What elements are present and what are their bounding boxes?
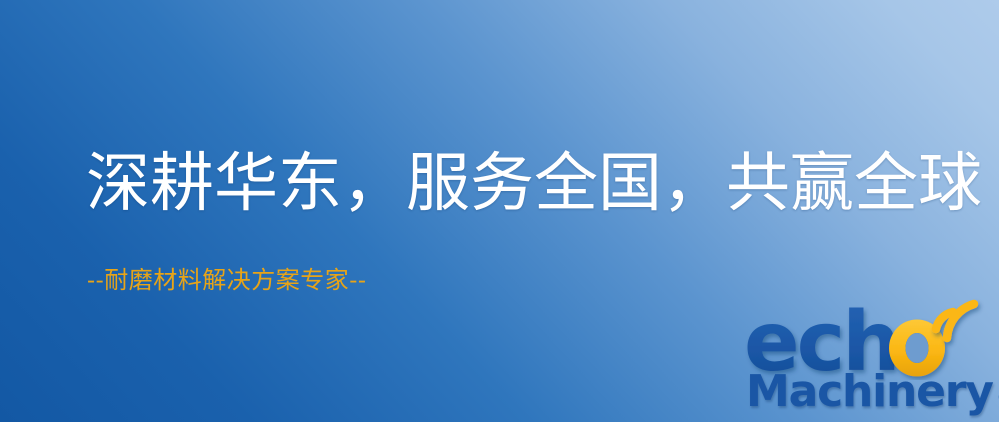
logo-text-machinery: Machinery bbox=[746, 370, 993, 414]
headline-text: 深耕华东，服务全国，共赢全球 bbox=[86, 152, 982, 216]
echo-machinery-logo: ech Machinery ® bbox=[744, 296, 994, 422]
logo-subtext-block: Machinery ® bbox=[746, 370, 999, 414]
signal-waves-icon bbox=[936, 304, 974, 338]
hero-banner: 深耕华东，服务全国，共赢全球 --耐磨材料解决方案专家-- bbox=[0, 0, 999, 422]
subtitle-text: --耐磨材料解决方案专家-- bbox=[87, 268, 366, 292]
